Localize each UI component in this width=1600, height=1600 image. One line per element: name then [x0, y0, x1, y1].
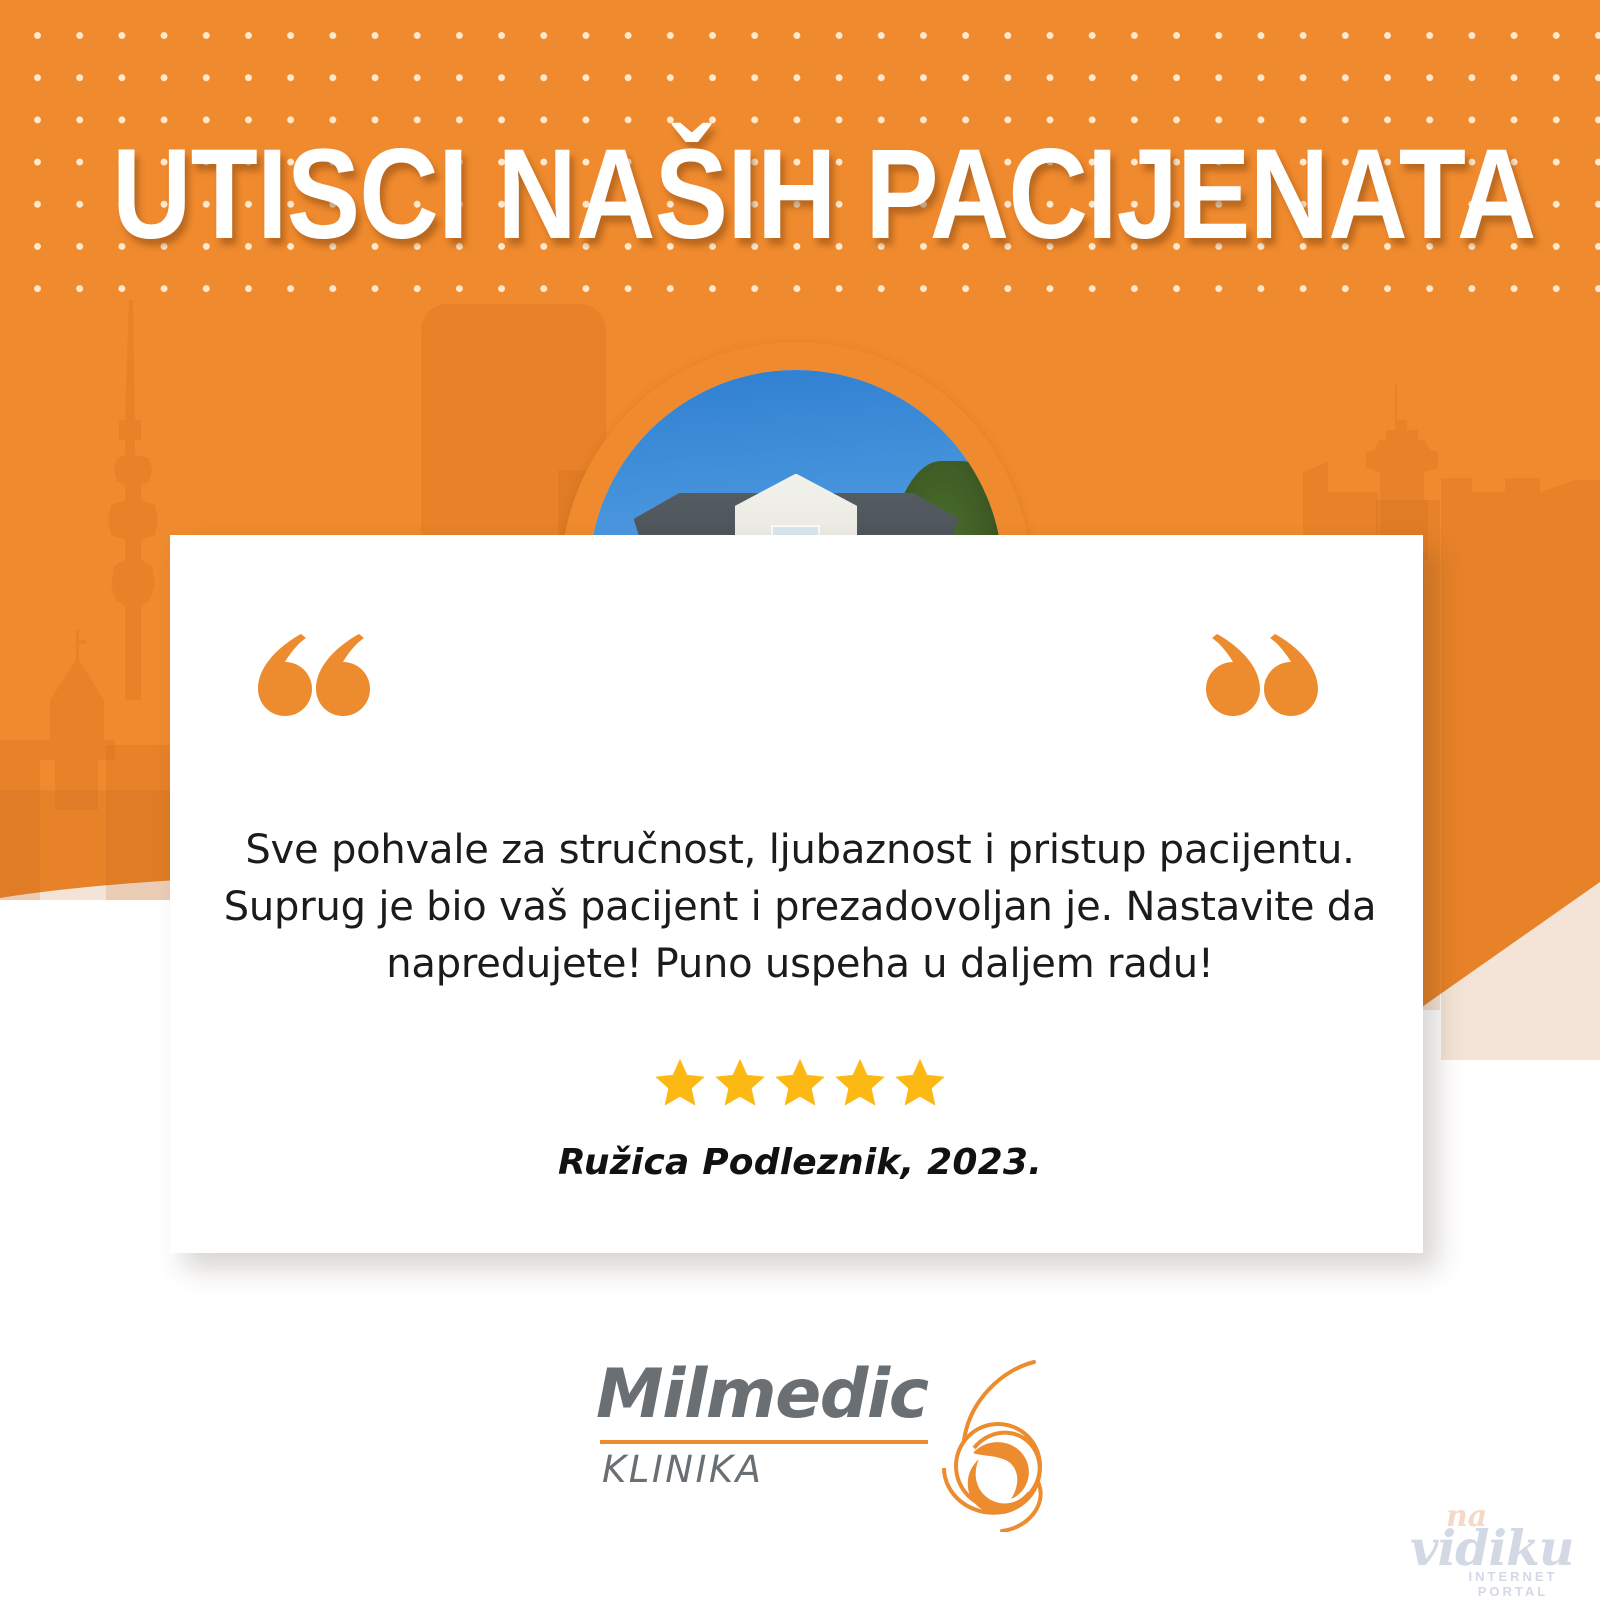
page-title: UTISCI NAŠIH PACIJENATA: [112, 131, 1488, 259]
navidiku-watermark: na vidiku INTERNET PORTAL: [1402, 1497, 1588, 1589]
star-icon: [771, 1055, 829, 1111]
star-icon: [651, 1055, 709, 1111]
star-icon: [831, 1055, 889, 1111]
testimonial-poster: UTISCI NAŠIH PACIJENATA: [0, 0, 1600, 1600]
milmedic-logo: Milmedic KLINIKA: [590, 1300, 1050, 1530]
quote-open-icon: [248, 634, 373, 729]
watermark-portal: INTERNET PORTAL: [1438, 1569, 1588, 1599]
quote-close-icon: [1203, 634, 1328, 729]
star-icon: [891, 1055, 949, 1111]
milmedic-swirl-eye-icon: [852, 1322, 1052, 1537]
testimonial-author: Ružica Podleznik, 2023.: [0, 1142, 1600, 1183]
testimonial-quote-text: Sve pohvale za stručnost, ljubaznost i p…: [220, 822, 1380, 992]
star-icon: [711, 1055, 769, 1111]
star-rating: [0, 1055, 1600, 1111]
logo-subtitle: KLINIKA: [602, 1448, 763, 1491]
